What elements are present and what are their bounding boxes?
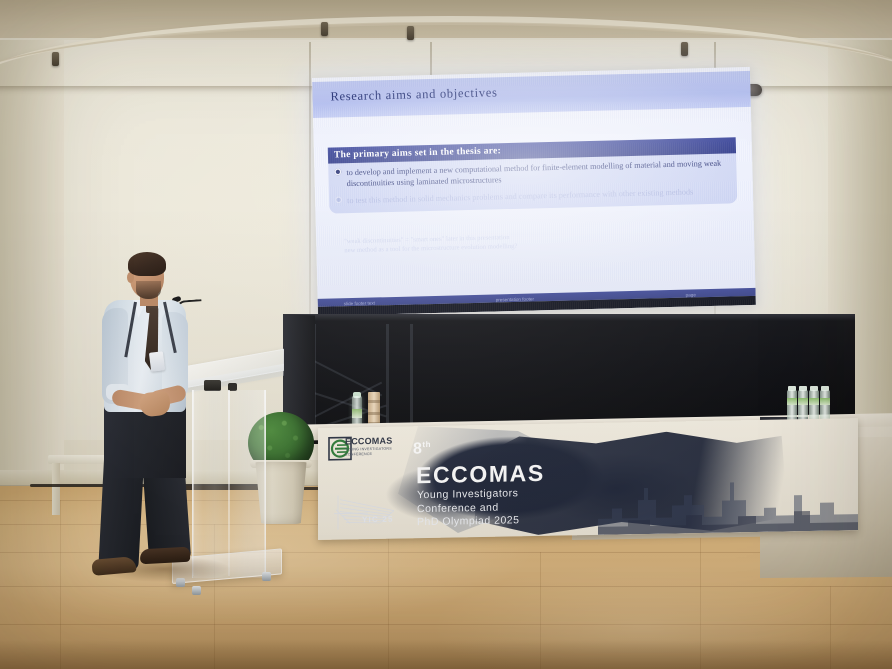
wall-hook bbox=[52, 52, 59, 66]
wall-left-return bbox=[0, 40, 64, 480]
lectern-foot bbox=[262, 572, 271, 581]
eccomas-logo-subtext-2: CONFERENCE bbox=[345, 452, 372, 457]
city-skyline-graphic bbox=[598, 468, 858, 535]
eccomas-banner: ECCOMAS YOUNG INVESTIGATORS CONFERENCE 8… bbox=[318, 418, 858, 540]
banner-subtitle-line: PhD Olympiad 2025 bbox=[417, 514, 519, 529]
wall-hook bbox=[407, 26, 414, 40]
bullet-marker-icon bbox=[334, 168, 341, 175]
wall-hook bbox=[681, 42, 688, 56]
floor-foreground-shadow bbox=[0, 640, 892, 669]
speaker-conference-badge bbox=[149, 351, 165, 372]
water-bottle bbox=[809, 390, 819, 422]
eccomas-logo-wordmark: ECCOMAS bbox=[345, 436, 392, 447]
lectern-foot bbox=[192, 586, 201, 595]
yic-emblem-icon bbox=[334, 488, 410, 533]
presentation-photo-scene: Research aims and objectives The primary… bbox=[0, 0, 892, 669]
banner-brand: ECCOMAS bbox=[416, 460, 545, 489]
banner-subtitle-line: Young Investigators bbox=[417, 487, 519, 502]
bottle-label bbox=[352, 409, 362, 418]
presentation-slide: Research aims and objectives The primary… bbox=[312, 67, 756, 316]
speaker-hair bbox=[128, 252, 166, 276]
projection-screen: Research aims and objectives The primary… bbox=[312, 67, 756, 316]
speaker-shoe-right bbox=[140, 547, 191, 565]
slide-footer-right: page bbox=[686, 292, 696, 297]
banner-subtitle: Young Investigators Conference and PhD O… bbox=[417, 487, 519, 529]
speaker-beard bbox=[136, 281, 161, 299]
stage-backdrop-top-edge bbox=[283, 314, 855, 321]
water-bottle bbox=[787, 390, 797, 422]
bullet-marker-icon bbox=[335, 196, 342, 203]
water-bottle-row bbox=[787, 390, 831, 422]
banner-ordinal: 8th bbox=[413, 440, 431, 459]
yic-label: YIC 25 bbox=[362, 515, 394, 525]
wall-hook bbox=[321, 22, 328, 36]
water-bottle bbox=[798, 390, 808, 422]
water-bottle bbox=[820, 390, 830, 422]
